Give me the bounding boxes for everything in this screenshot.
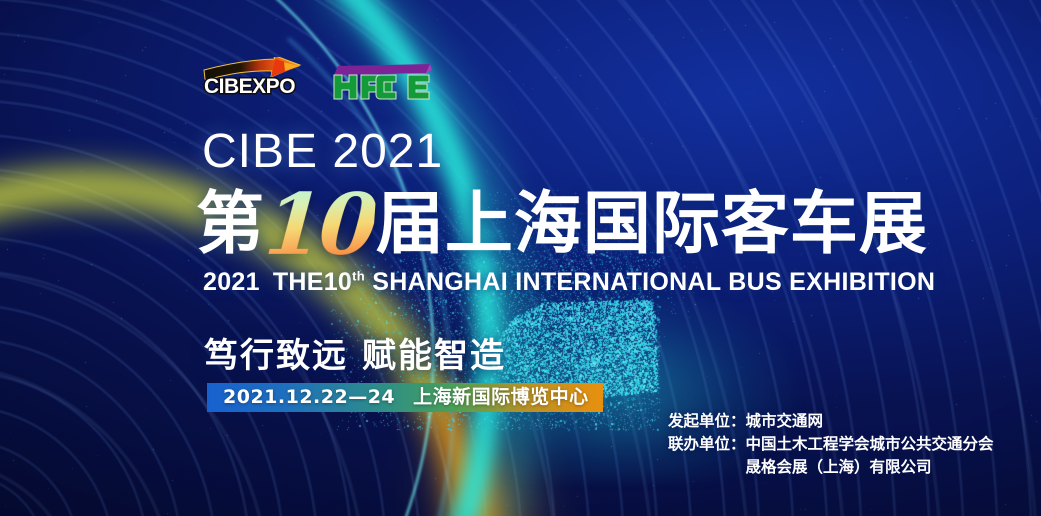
headline-suffix: 届上海国际客车展 <box>376 191 928 259</box>
english-event-name: SHANGHAI INTERNATIONAL BUS EXHIBITION <box>372 268 935 296</box>
coorganizer-value-2: 晟格会展（上海）有限公司 <box>746 456 994 479</box>
initiator-value: 城市交通网 <box>746 410 824 433</box>
organizer-row-coorganizer: 联办单位： 中国土木工程学会城市公共交通分会 晟格会展（上海）有限公司 <box>668 433 994 479</box>
event-venue: 上海新国际博览中心 <box>413 386 589 408</box>
slogan: 笃行致远赋能智造 <box>204 328 506 377</box>
main-headline: 第10届上海国际客车展 <box>196 182 928 259</box>
slogan-part-2: 赋能智造 <box>362 336 506 376</box>
coorganizer-values: 中国土木工程学会城市公共交通分会 晟格会展（上海）有限公司 <box>746 433 994 479</box>
cibe-2021-promo-banner: CIBEXPO CIBE 2021 <box>0 0 1041 516</box>
slogan-part-1: 笃行致远 <box>204 336 348 376</box>
organizer-row-initiator: 发起单位： 城市交通网 <box>668 410 994 433</box>
english-subtitle: 2021THE10th SHANGHAI INTERNATIONAL BUS E… <box>203 268 935 297</box>
date-venue-badge: 2021.12.22—24上海新国际博览中心 <box>207 383 603 412</box>
coorganizer-value-1: 中国土木工程学会城市公共交通分会 <box>746 433 994 456</box>
english-year: 2021 <box>203 268 260 296</box>
headline-prefix: 第 <box>196 191 265 259</box>
initiator-label: 发起单位： <box>668 410 746 433</box>
event-date: 2021.12.22—24 <box>223 386 395 408</box>
latin-title: CIBE 2021 <box>202 124 443 179</box>
coorganizer-label: 联办单位： <box>668 433 746 479</box>
banner-content: CIBE 2021 第10届上海国际客车展 2021THE10th SHANGH… <box>0 0 1041 516</box>
headline-edition-number: 10 <box>262 186 376 263</box>
english-edition: THE10 <box>273 268 352 296</box>
organizer-block: 发起单位： 城市交通网 联办单位： 中国土木工程学会城市公共交通分会 晟格会展（… <box>668 410 994 479</box>
english-ordinal-suffix: th <box>352 269 365 284</box>
